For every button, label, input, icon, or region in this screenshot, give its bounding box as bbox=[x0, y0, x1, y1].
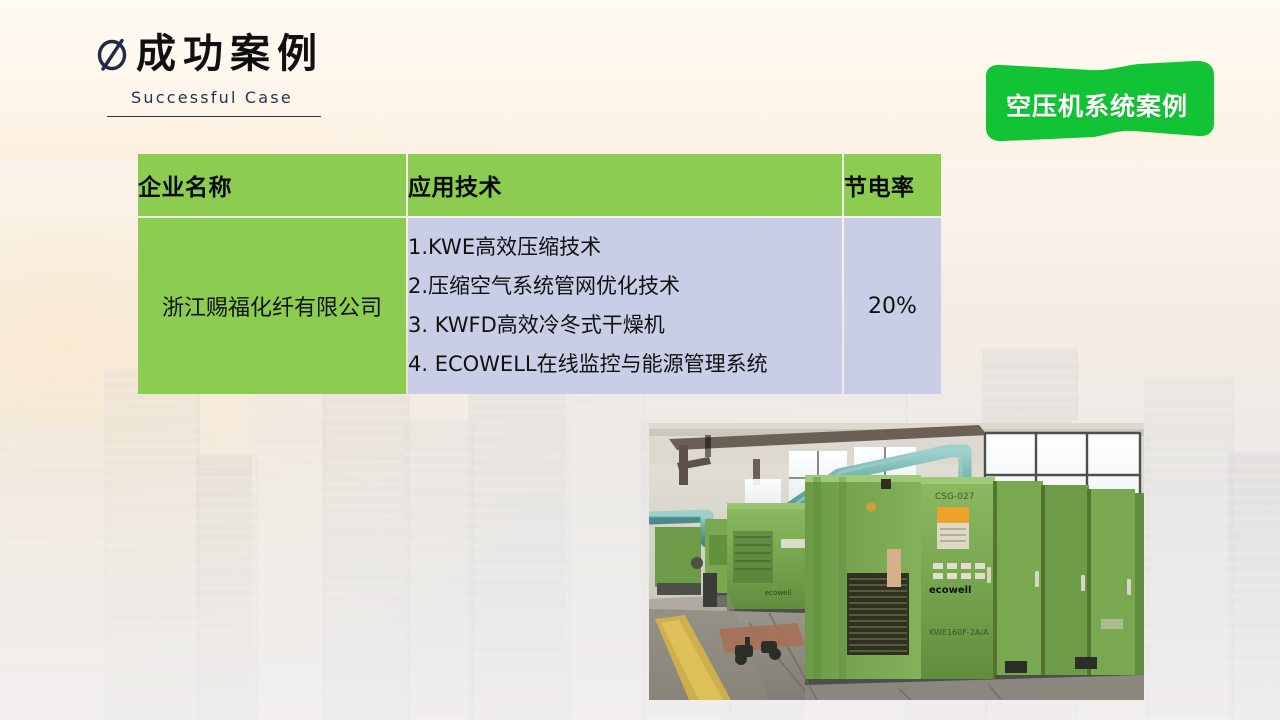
cell-technology-list: 1.KWE高效压缩技术 2.压缩空气系统管网优化技术 3. KWFD高效冷冬式干… bbox=[408, 218, 842, 394]
title-divider bbox=[107, 116, 321, 117]
title-row: 成功案例 bbox=[96, 34, 324, 74]
cell-company-name: 浙江赐福化纤有限公司 bbox=[138, 218, 406, 394]
list-item: 4. ECOWELL在线监控与能源管理系统 bbox=[408, 345, 842, 384]
page-title: 成功案例 bbox=[136, 34, 324, 74]
case-table: 企业名称 应用技术 节电率 浙江赐福化纤有限公司 1.KWE高效压缩技术 2.压… bbox=[136, 152, 943, 396]
section-badge: 空压机系统案例 bbox=[978, 61, 1216, 142]
table-header-company: 企业名称 bbox=[138, 154, 406, 216]
technology-list: 1.KWE高效压缩技术 2.压缩空气系统管网优化技术 3. KWFD高效冷冬式干… bbox=[408, 228, 842, 384]
list-item: 3. KWFD高效冷冬式干燥机 bbox=[408, 306, 842, 345]
page-subtitle: Successful Case bbox=[131, 88, 324, 107]
badge-label: 空压机系统案例 bbox=[978, 87, 1216, 123]
table-header-row: 企业名称 应用技术 节电率 bbox=[138, 154, 941, 216]
page-title-block: 成功案例 Successful Case bbox=[96, 34, 324, 117]
svg-text:CSG-027: CSG-027 bbox=[935, 492, 974, 502]
compressor-photo-image: ecowell bbox=[649, 423, 1144, 700]
table-header-technology: 应用技术 bbox=[408, 154, 842, 216]
cell-saving-rate: 20% bbox=[844, 218, 941, 394]
svg-text:KWE160F-2A/A: KWE160F-2A/A bbox=[929, 628, 989, 637]
compressor-photo: ecowell bbox=[649, 423, 1144, 700]
slash-circle-icon bbox=[96, 36, 129, 72]
list-item: 2.压缩空气系统管网优化技术 bbox=[408, 267, 842, 306]
svg-text:ecowell: ecowell bbox=[765, 589, 791, 597]
table-row: 浙江赐福化纤有限公司 1.KWE高效压缩技术 2.压缩空气系统管网优化技术 3.… bbox=[138, 218, 941, 394]
slide-canvas: 成功案例 Successful Case 空压机系统案例 企业名称 应用技术 节… bbox=[0, 0, 1280, 720]
svg-text:ecowell: ecowell bbox=[929, 585, 971, 596]
list-item: 1.KWE高效压缩技术 bbox=[408, 228, 842, 267]
table-header-saving-rate: 节电率 bbox=[844, 154, 941, 216]
